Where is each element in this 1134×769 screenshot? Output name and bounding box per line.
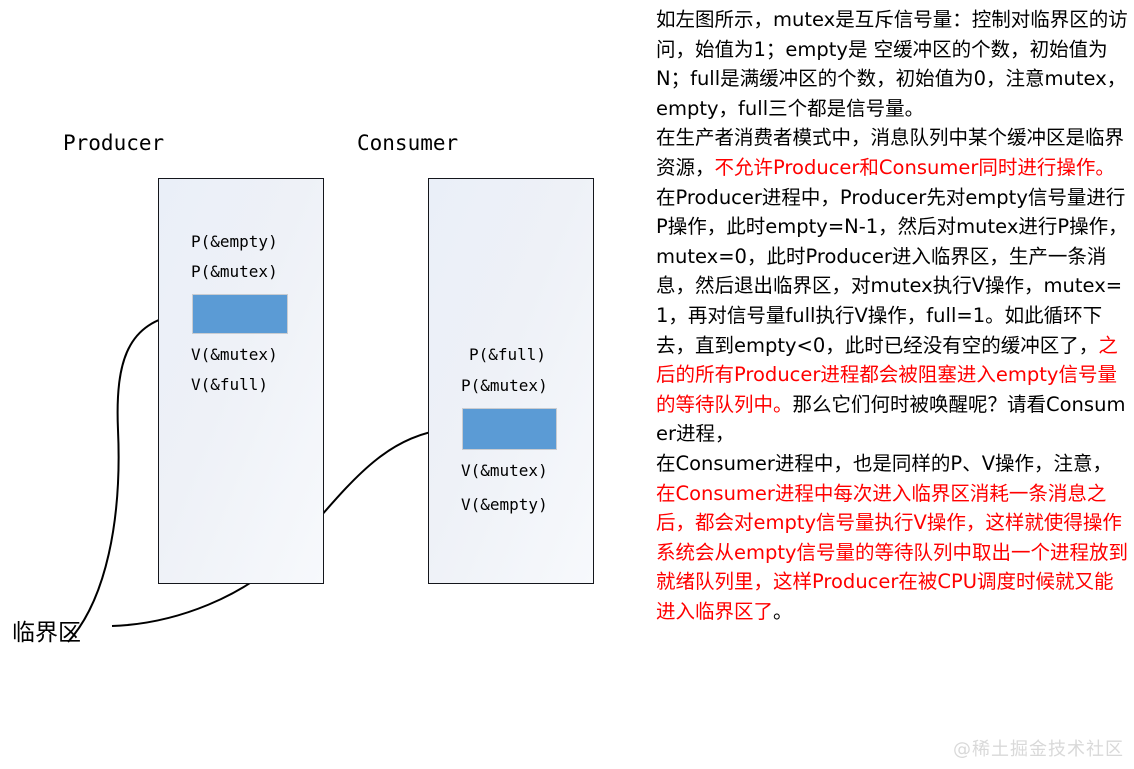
producer-critical-section-block: [192, 294, 288, 334]
note-paragraph-1: 如左图所示，mutex是互斥信号量：控制对临界区的访问，始值为1；empty是 …: [656, 5, 1130, 123]
note-p4-highlight: 在Consumer进程中每次进入临界区消耗一条消息之后，都会对empty信号量执…: [656, 482, 1128, 623]
note-p4-text-a: 在Consumer进程中，也是同样的P、V操作，注意，: [656, 452, 1112, 475]
note-p3-text-a: 在Producer进程中，Producer先对empty信号量进行P操作，此时e…: [656, 186, 1128, 357]
producer-op-v-mutex: V(&mutex): [191, 345, 278, 364]
producer-op-p-mutex: P(&mutex): [191, 262, 278, 281]
consumer-op-v-empty: V(&empty): [461, 495, 548, 514]
consumer-op-p-mutex: P(&mutex): [461, 376, 548, 395]
consumer-op-p-full: P(&full): [469, 345, 546, 364]
diagram-pane: Producer P(&empty) P(&mutex) V(&mutex) V…: [0, 0, 645, 769]
producer-title: Producer: [63, 131, 164, 155]
explanation-text-pane: 如左图所示，mutex是互斥信号量：控制对临界区的访问，始值为1；empty是 …: [645, 0, 1134, 769]
page-root: Producer P(&empty) P(&mutex) V(&mutex) V…: [0, 0, 1134, 769]
note-paragraph-4: 在Consumer进程中，也是同样的P、V操作，注意，在Consumer进程中每…: [656, 449, 1130, 627]
consumer-op-v-mutex: V(&mutex): [461, 461, 548, 480]
producer-op-p-empty: P(&empty): [191, 232, 278, 251]
site-watermark: @稀土掘金技术社区: [953, 735, 1124, 761]
note-p1-text: 如左图所示，mutex是互斥信号量：控制对临界区的访问，始值为1；empty是 …: [656, 8, 1128, 120]
producer-op-v-full: V(&full): [191, 375, 268, 394]
consumer-critical-section-block: [462, 408, 557, 450]
note-p2-highlight: 不允许Producer和Consumer同时进行操作。: [715, 156, 1115, 179]
note-p4-text-b: 。: [773, 600, 793, 623]
note-paragraph-2: 在生产者消费者模式中，消息队列中某个缓冲区是临界资源，不允许Producer和C…: [656, 123, 1130, 182]
consumer-title: Consumer: [357, 131, 458, 155]
note-paragraph-3: 在Producer进程中，Producer先对empty信号量进行P操作，此时e…: [656, 183, 1130, 449]
critical-region-annotation-label: 临界区: [12, 613, 81, 647]
